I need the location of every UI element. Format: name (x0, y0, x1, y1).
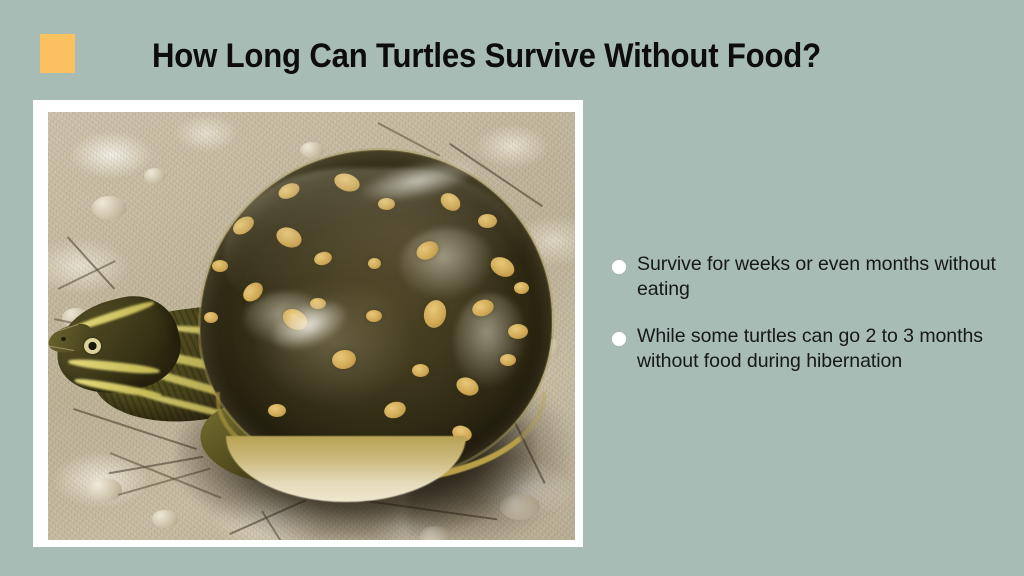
list-item: Survive for weeks or even months without… (612, 252, 1000, 302)
turtle-eye (84, 338, 101, 354)
accent-square-decoration (40, 34, 75, 73)
photo-frame (33, 100, 583, 547)
bullet-list: Survive for weeks or even months without… (612, 252, 1000, 396)
slide: How Long Can Turtles Survive Without Foo… (0, 0, 1024, 576)
bullet-dot-icon (612, 260, 626, 274)
shell-spot (500, 354, 516, 366)
bullet-text: Survive for weeks or even months without… (637, 253, 996, 300)
turtle (48, 112, 575, 540)
shell-spot (204, 312, 218, 323)
turtle-nostril (61, 337, 66, 341)
page-title: How Long Can Turtles Survive Without Foo… (152, 36, 847, 76)
list-item: While some turtles can go 2 to 3 months … (612, 324, 1000, 374)
shell-spot (412, 364, 429, 377)
bullet-text: While some turtles can go 2 to 3 months … (637, 325, 983, 372)
turtle-photo (48, 112, 575, 540)
shell-spot (508, 324, 528, 339)
bullet-dot-icon (612, 332, 626, 346)
